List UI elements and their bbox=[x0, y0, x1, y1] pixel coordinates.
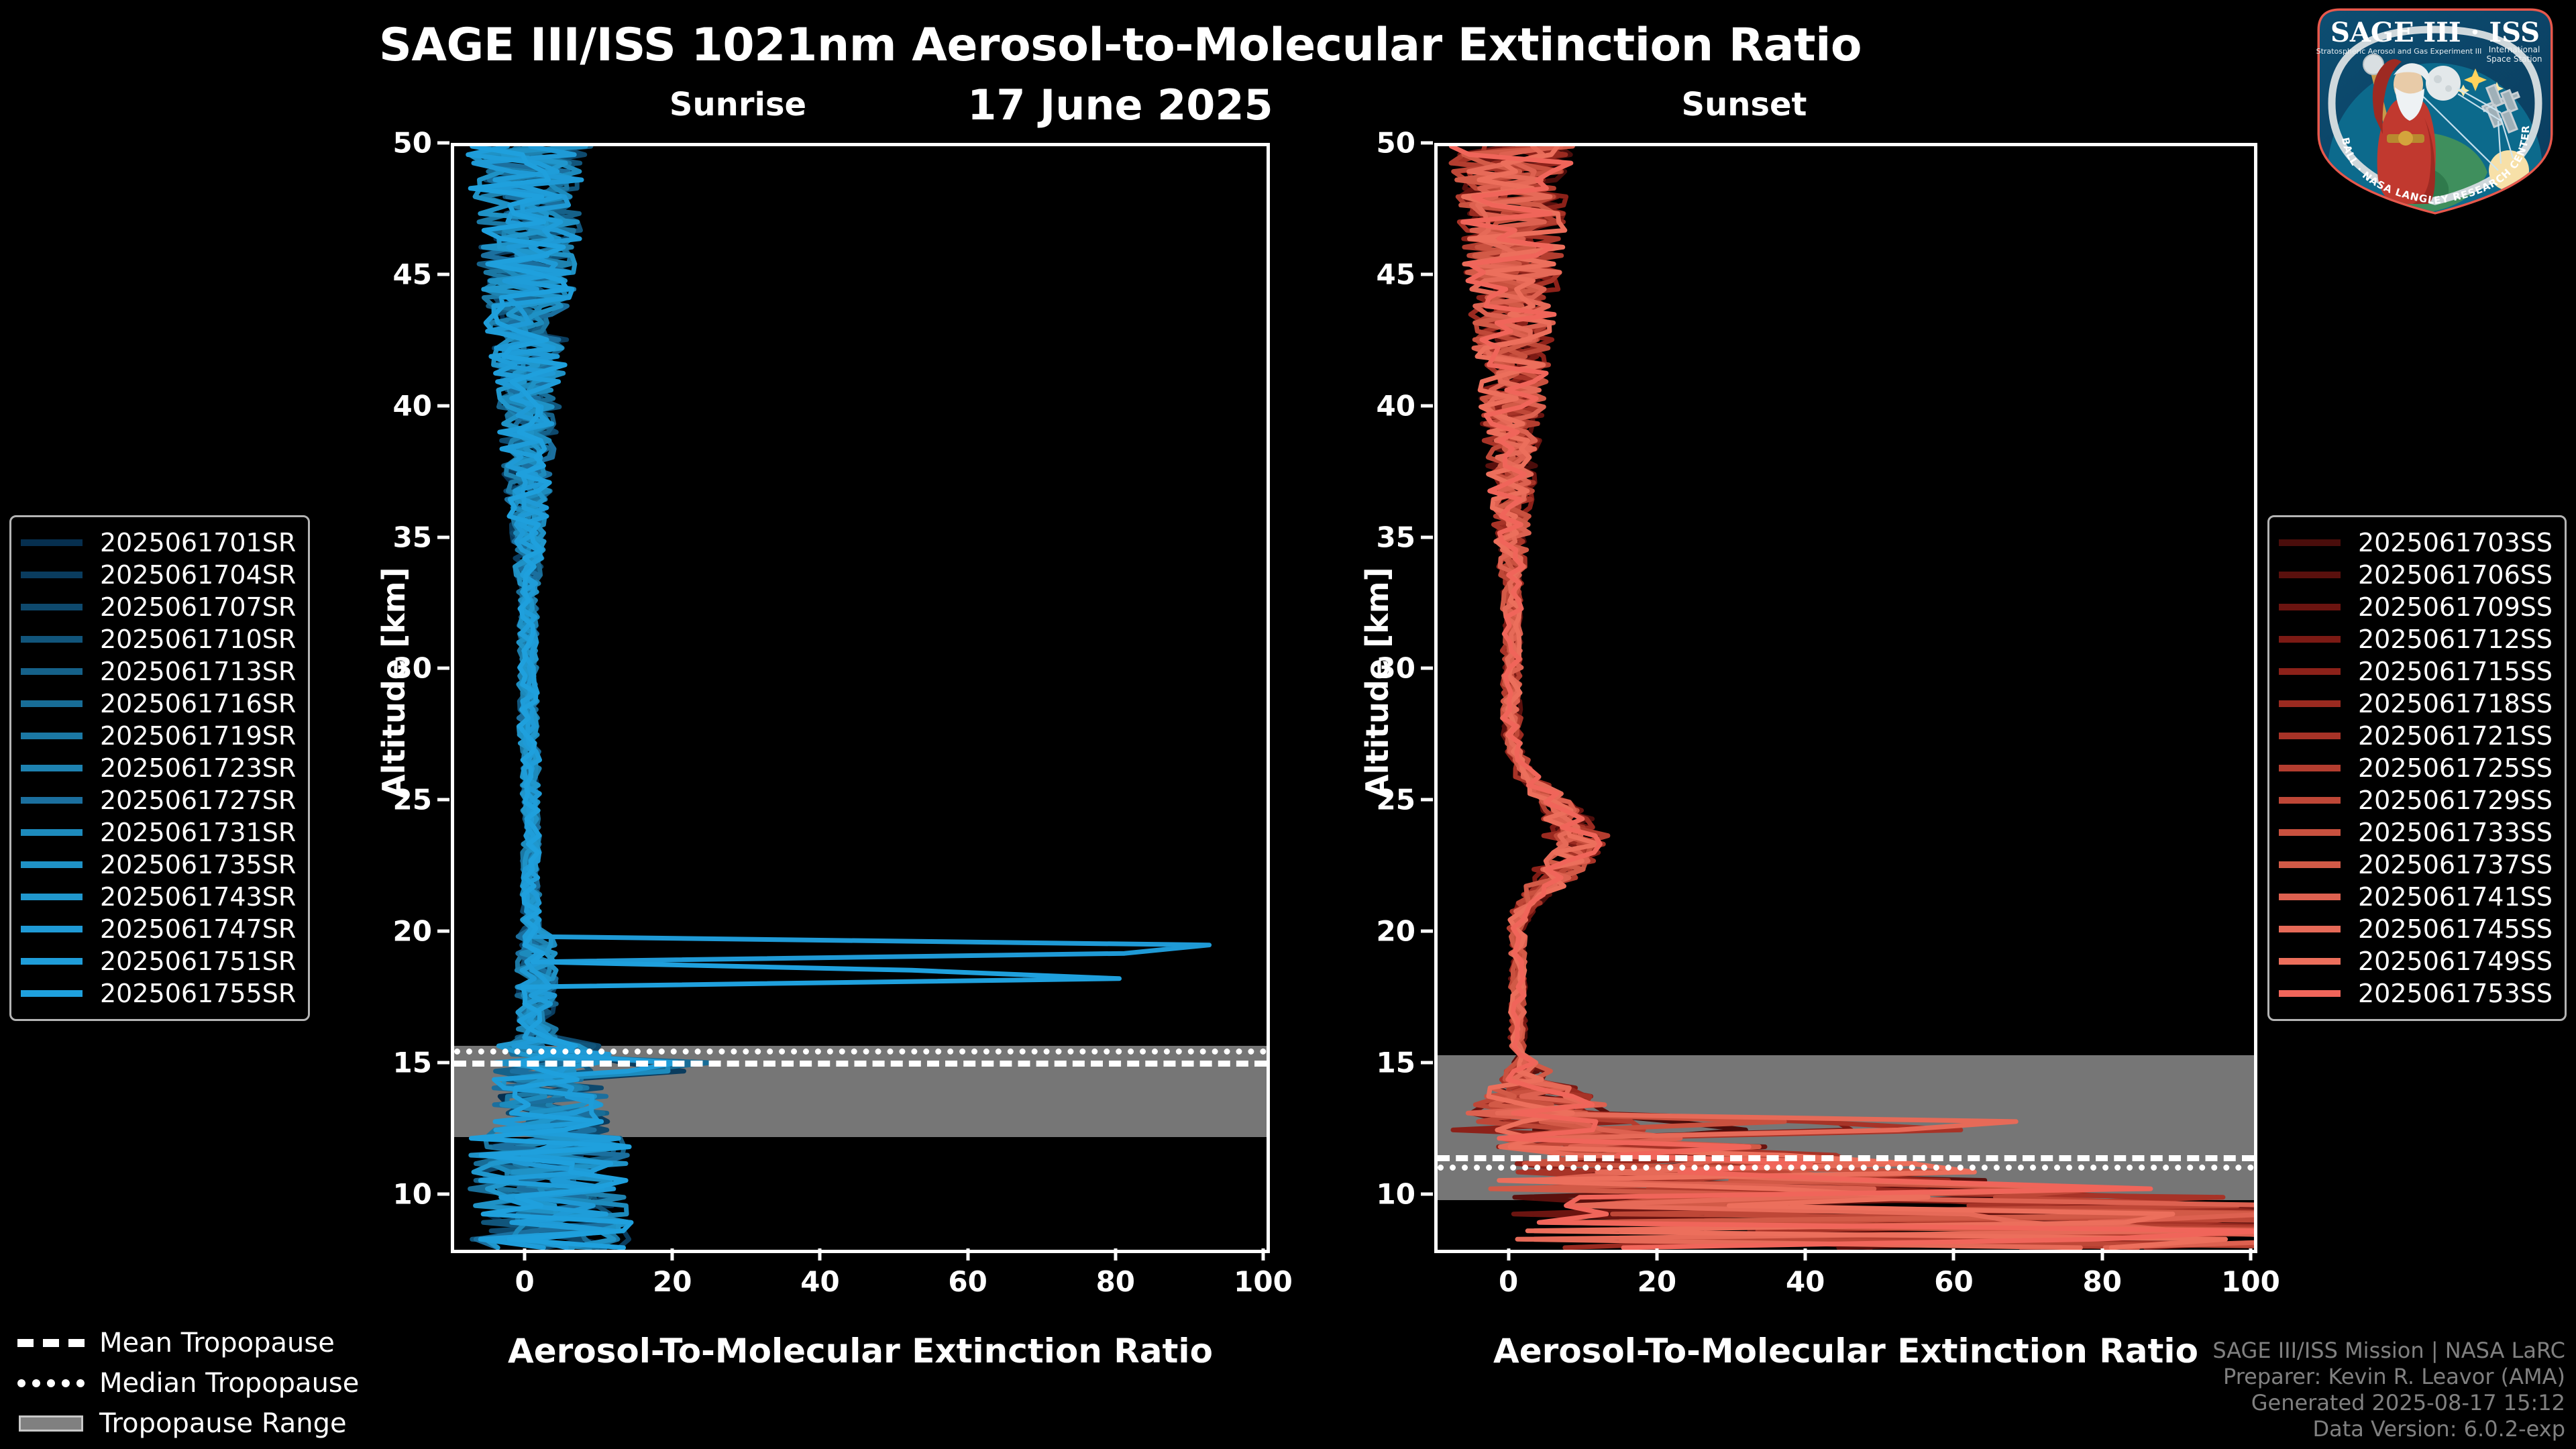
x-tick-mark bbox=[1507, 1248, 1510, 1260]
y-tick-mark bbox=[1421, 930, 1433, 933]
legend-item[interactable]: 2025061755SR bbox=[21, 977, 296, 1010]
legend-item-label: 2025061701SR bbox=[100, 528, 296, 557]
x-tick-label: 100 bbox=[1234, 1265, 1293, 1298]
legend-item-label: 2025061710SR bbox=[100, 625, 296, 654]
credits-line: Data Version: 6.0.2-exp bbox=[2212, 1416, 2565, 1442]
y-tick-mark bbox=[437, 404, 449, 407]
legend-item[interactable]: 2025061701SR bbox=[21, 527, 296, 559]
x-tick-mark bbox=[1114, 1248, 1117, 1260]
tropopause-median-line bbox=[454, 1049, 1267, 1055]
panel-title-sunset: Sunset bbox=[1610, 86, 1878, 123]
legend-sunset-events[interactable]: 2025061703SS2025061706SS2025061709SS2025… bbox=[2267, 515, 2567, 1021]
legend-color-swatch bbox=[21, 700, 83, 707]
x-tick-label: 0 bbox=[1499, 1265, 1518, 1298]
x-tick-label: 60 bbox=[948, 1265, 987, 1298]
credits-line: SAGE III/ISS Mission | NASA LaRC bbox=[2212, 1338, 2565, 1364]
legend-color-swatch bbox=[21, 668, 83, 675]
legend-item[interactable]: 2025061729SS bbox=[2279, 784, 2553, 816]
profile-line bbox=[1460, 146, 2254, 1248]
legend-color-swatch bbox=[2279, 668, 2341, 675]
legend-color-swatch bbox=[21, 894, 83, 900]
figure-canvas: SAGE III/ISS 1021nm Aerosol-to-Molecular… bbox=[0, 0, 2576, 1449]
legend-item-label: 2025061719SR bbox=[100, 721, 296, 751]
y-tick-mark bbox=[1421, 535, 1433, 539]
y-tick-label: 35 bbox=[377, 521, 432, 553]
legend-color-swatch bbox=[21, 829, 83, 836]
legend-item[interactable]: 2025061751SR bbox=[21, 945, 296, 977]
legend-color-swatch bbox=[2279, 636, 2341, 643]
credits-block: SAGE III/ISS Mission | NASA LaRCPreparer… bbox=[2212, 1338, 2565, 1442]
legend-item[interactable]: 2025061709SS bbox=[2279, 591, 2553, 623]
tropopause-key-label: Mean Tropopause bbox=[99, 1328, 335, 1358]
axes-sunrise[interactable] bbox=[451, 143, 1270, 1253]
legend-sunrise-events[interactable]: 2025061701SR2025061704SR2025061707SR2025… bbox=[9, 515, 310, 1021]
figure-date: 17 June 2025 bbox=[0, 80, 2241, 129]
profile-line bbox=[1454, 146, 2254, 1248]
y-tick-label: 10 bbox=[1360, 1177, 1415, 1210]
legend-item-label: 2025061718SS bbox=[2358, 689, 2553, 718]
legend-item[interactable]: 2025061721SS bbox=[2279, 720, 2553, 752]
legend-color-swatch bbox=[21, 539, 83, 546]
x-tick-mark bbox=[671, 1248, 674, 1260]
profile-line bbox=[1466, 146, 2254, 1248]
legend-item[interactable]: 2025061710SR bbox=[21, 623, 296, 655]
x-tick-mark bbox=[2100, 1248, 2104, 1260]
x-tick-mark bbox=[818, 1248, 822, 1260]
legend-item-label: 2025061721SS bbox=[2358, 721, 2553, 751]
legend-item-label: 2025061751SR bbox=[100, 947, 296, 976]
legend-color-swatch bbox=[21, 861, 83, 868]
y-tick-mark bbox=[1421, 404, 1433, 407]
profile-lines bbox=[1438, 146, 2254, 1250]
profile-line bbox=[1453, 146, 2254, 1248]
legend-color-swatch bbox=[21, 797, 83, 804]
legend-item[interactable]: 2025061716SR bbox=[21, 688, 296, 720]
y-tick-label: 40 bbox=[1360, 389, 1415, 422]
legend-item-label: 2025061737SS bbox=[2358, 850, 2553, 879]
x-tick-label: 0 bbox=[515, 1265, 534, 1298]
legend-item-label: 2025061704SR bbox=[100, 560, 296, 590]
legend-item[interactable]: 2025061743SR bbox=[21, 881, 296, 913]
svg-text:International: International bbox=[2489, 45, 2540, 54]
x-axis-label-sunset: Aerosol-To-Molecular Extinction Ratio bbox=[1434, 1332, 2257, 1371]
panel-title-sunrise: Sunrise bbox=[604, 86, 872, 123]
x-tick-label: 20 bbox=[1638, 1265, 1676, 1298]
y-tick-mark bbox=[437, 667, 449, 670]
y-tick-mark bbox=[437, 272, 449, 276]
y-tick-mark bbox=[1421, 798, 1433, 802]
legend-item-label: 2025061709SS bbox=[2358, 592, 2553, 622]
legend-item-label: 2025061723SR bbox=[100, 753, 296, 783]
y-tick-label: 35 bbox=[1360, 521, 1415, 553]
y-tick-mark bbox=[1421, 272, 1433, 276]
y-axis-label-sunrise: Altitude [km] bbox=[376, 567, 412, 798]
legend-item-label: 2025061755SR bbox=[100, 979, 296, 1008]
legend-color-swatch bbox=[2279, 926, 2341, 932]
legend-item-label: 2025061712SS bbox=[2358, 625, 2553, 654]
legend-color-swatch bbox=[2279, 700, 2341, 707]
legend-color-swatch bbox=[2279, 572, 2341, 578]
legend-color-swatch bbox=[2279, 765, 2341, 771]
profile-line bbox=[1461, 146, 2254, 1248]
legend-item[interactable]: 2025061725SS bbox=[2279, 752, 2553, 784]
y-tick-mark bbox=[1421, 1061, 1433, 1064]
x-tick-mark bbox=[966, 1248, 969, 1260]
legend-color-swatch bbox=[21, 636, 83, 643]
axes-sunset[interactable] bbox=[1434, 143, 2257, 1253]
legend-item-label: 2025061707SR bbox=[100, 592, 296, 622]
legend-item-label: 2025061741SS bbox=[2358, 882, 2553, 912]
profile-line bbox=[470, 146, 1119, 1248]
legend-item-label: 2025061725SS bbox=[2358, 753, 2553, 783]
sage-iii-iss-logo-icon: BALL · NASA LANGLEY RESEARCH CENTER · TA… bbox=[2300, 3, 2571, 217]
legend-color-swatch bbox=[2279, 797, 2341, 804]
tropopause-mean-line bbox=[454, 1061, 1267, 1067]
x-axis-label-sunrise: Aerosol-To-Molecular Extinction Ratio bbox=[451, 1332, 1270, 1371]
tropopause-key-item[interactable]: Mean Tropopause bbox=[17, 1323, 359, 1363]
y-tick-mark bbox=[437, 1192, 449, 1195]
legend-item[interactable]: 2025061715SS bbox=[2279, 655, 2553, 688]
legend-item-label: 2025061745SS bbox=[2358, 914, 2553, 944]
legend-color-swatch bbox=[2279, 733, 2341, 739]
legend-item-label: 2025061733SS bbox=[2358, 818, 2553, 847]
legend-item-label: 2025061735SR bbox=[100, 850, 296, 879]
profile-line bbox=[1451, 146, 2254, 1248]
profile-line bbox=[1464, 146, 2190, 1248]
x-tick-label: 80 bbox=[1096, 1265, 1135, 1298]
legend-color-swatch bbox=[2279, 894, 2341, 900]
legend-color-swatch bbox=[21, 926, 83, 932]
legend-item-label: 2025061749SS bbox=[2358, 947, 2553, 976]
legend-item-label: 2025061713SR bbox=[100, 657, 296, 686]
x-tick-mark bbox=[2249, 1248, 2253, 1260]
y-tick-mark bbox=[437, 930, 449, 933]
svg-text:SAGE III · ISS: SAGE III · ISS bbox=[2330, 17, 2540, 48]
tropopause-key-marker bbox=[17, 1415, 85, 1432]
legend-item[interactable]: 2025061735SR bbox=[21, 849, 296, 881]
legend-item[interactable]: 2025061747SR bbox=[21, 913, 296, 945]
legend-item-label: 2025061727SR bbox=[100, 786, 296, 815]
legend-item-label: 2025061743SR bbox=[100, 882, 296, 912]
legend-item-label: 2025061731SR bbox=[100, 818, 296, 847]
legend-item[interactable]: 2025061737SS bbox=[2279, 849, 2553, 881]
legend-color-swatch bbox=[2279, 990, 2341, 997]
y-tick-label: 15 bbox=[377, 1046, 432, 1079]
legend-color-swatch bbox=[2279, 861, 2341, 868]
legend-item[interactable]: 2025061727SR bbox=[21, 784, 296, 816]
profile-line bbox=[1457, 146, 2254, 1248]
profile-line bbox=[1454, 146, 2254, 1248]
x-tick-mark bbox=[1804, 1248, 1807, 1260]
tropopause-key-label: Tropopause Range bbox=[99, 1408, 347, 1439]
svg-text:Stratospheric Aerosol and Gas: Stratospheric Aerosol and Gas Experiment… bbox=[2316, 47, 2482, 56]
legend-item[interactable]: 2025061741SS bbox=[2279, 881, 2553, 913]
tropopause-key-item[interactable]: Median Tropopause bbox=[17, 1363, 359, 1403]
profile-line bbox=[1468, 146, 2254, 1248]
plot-area-sunrise bbox=[454, 146, 1267, 1250]
x-tick-mark bbox=[1655, 1248, 1658, 1260]
x-tick-label: 20 bbox=[653, 1265, 692, 1298]
legend-item-label: 2025061716SR bbox=[100, 689, 296, 718]
y-tick-label: 50 bbox=[1360, 127, 1415, 160]
x-tick-label: 60 bbox=[1934, 1265, 1973, 1298]
svg-text:Space Station: Space Station bbox=[2486, 54, 2542, 64]
y-tick-label: 40 bbox=[377, 389, 432, 422]
legend-item-label: 2025061703SS bbox=[2358, 528, 2553, 557]
tropopause-key-item[interactable]: Tropopause Range bbox=[17, 1403, 359, 1444]
legend-item[interactable]: 2025061703SS bbox=[2279, 527, 2553, 559]
y-tick-label: 15 bbox=[1360, 1046, 1415, 1079]
legend-item[interactable]: 2025061733SS bbox=[2279, 816, 2553, 849]
legend-color-swatch bbox=[21, 765, 83, 771]
y-tick-label: 20 bbox=[377, 915, 432, 948]
legend-color-swatch bbox=[2279, 829, 2341, 836]
legend-item[interactable]: 2025061707SR bbox=[21, 591, 296, 623]
legend-item[interactable]: 2025061753SS bbox=[2279, 977, 2553, 1010]
legend-item-label: 2025061753SS bbox=[2358, 979, 2553, 1008]
legend-item-label: 2025061729SS bbox=[2358, 786, 2553, 815]
profile-lines bbox=[454, 146, 1267, 1250]
profile-line bbox=[1468, 146, 2254, 1248]
y-tick-mark bbox=[437, 535, 449, 539]
y-tick-label: 10 bbox=[377, 1177, 432, 1210]
profile-line bbox=[1451, 146, 2254, 1248]
plot-area-sunset bbox=[1438, 146, 2254, 1250]
legend-color-swatch bbox=[21, 733, 83, 739]
legend-color-swatch bbox=[2279, 539, 2341, 546]
legend-item[interactable]: 2025061718SS bbox=[2279, 688, 2553, 720]
legend-item[interactable]: 2025061704SR bbox=[21, 559, 296, 591]
y-tick-label: 45 bbox=[377, 258, 432, 290]
x-tick-mark bbox=[523, 1248, 527, 1260]
legend-item[interactable]: 2025061712SS bbox=[2279, 623, 2553, 655]
profile-line bbox=[1472, 146, 2248, 1248]
y-tick-mark bbox=[1421, 667, 1433, 670]
y-tick-mark bbox=[1421, 1192, 1433, 1195]
y-tick-label: 20 bbox=[1360, 915, 1415, 948]
legend-item-label: 2025061706SS bbox=[2358, 560, 2553, 590]
profile-line bbox=[1464, 146, 2226, 1248]
legend-color-swatch bbox=[21, 990, 83, 997]
y-tick-mark bbox=[437, 142, 449, 145]
legend-color-swatch bbox=[2279, 604, 2341, 610]
credits-line: Preparer: Kevin R. Leavor (AMA) bbox=[2212, 1364, 2565, 1390]
legend-tropopause-key[interactable]: Mean TropopauseMedian TropopauseTropopau… bbox=[17, 1323, 359, 1444]
y-tick-mark bbox=[1421, 142, 1433, 145]
x-tick-label: 100 bbox=[2221, 1265, 2280, 1298]
tropopause-key-label: Median Tropopause bbox=[99, 1368, 359, 1399]
legend-item[interactable]: 2025061723SR bbox=[21, 752, 296, 784]
x-tick-label: 40 bbox=[1786, 1265, 1825, 1298]
profile-line bbox=[474, 146, 1210, 1248]
y-tick-label: 45 bbox=[1360, 258, 1415, 290]
x-tick-label: 80 bbox=[2082, 1265, 2121, 1298]
legend-item[interactable]: 2025061749SS bbox=[2279, 945, 2553, 977]
credits-line: Generated 2025-08-17 15:12 bbox=[2212, 1390, 2565, 1416]
legend-item[interactable]: 2025061745SS bbox=[2279, 913, 2553, 945]
page-title: SAGE III/ISS 1021nm Aerosol-to-Molecular… bbox=[0, 19, 2241, 72]
tropopause-median-line bbox=[1438, 1165, 2254, 1171]
legend-color-swatch bbox=[2279, 958, 2341, 965]
legend-item[interactable]: 2025061706SS bbox=[2279, 559, 2553, 591]
tropopause-mean-line bbox=[1438, 1155, 2254, 1161]
tropopause-key-marker bbox=[17, 1375, 85, 1391]
y-tick-mark bbox=[437, 1061, 449, 1064]
legend-item[interactable]: 2025061731SR bbox=[21, 816, 296, 849]
legend-item[interactable]: 2025061713SR bbox=[21, 655, 296, 688]
legend-color-swatch bbox=[21, 604, 83, 610]
y-axis-label-sunset: Altitude [km] bbox=[1359, 567, 1395, 798]
legend-item-label: 2025061747SR bbox=[100, 914, 296, 944]
tropopause-key-marker bbox=[17, 1335, 85, 1351]
profile-line bbox=[1464, 146, 2254, 1248]
x-tick-label: 40 bbox=[800, 1265, 839, 1298]
legend-item-label: 2025061715SS bbox=[2358, 657, 2553, 686]
y-tick-label: 50 bbox=[377, 127, 432, 160]
x-tick-mark bbox=[1952, 1248, 1955, 1260]
x-tick-mark bbox=[1262, 1248, 1265, 1260]
legend-color-swatch bbox=[21, 958, 83, 965]
legend-item[interactable]: 2025061719SR bbox=[21, 720, 296, 752]
legend-color-swatch bbox=[21, 572, 83, 578]
y-tick-mark bbox=[437, 798, 449, 802]
